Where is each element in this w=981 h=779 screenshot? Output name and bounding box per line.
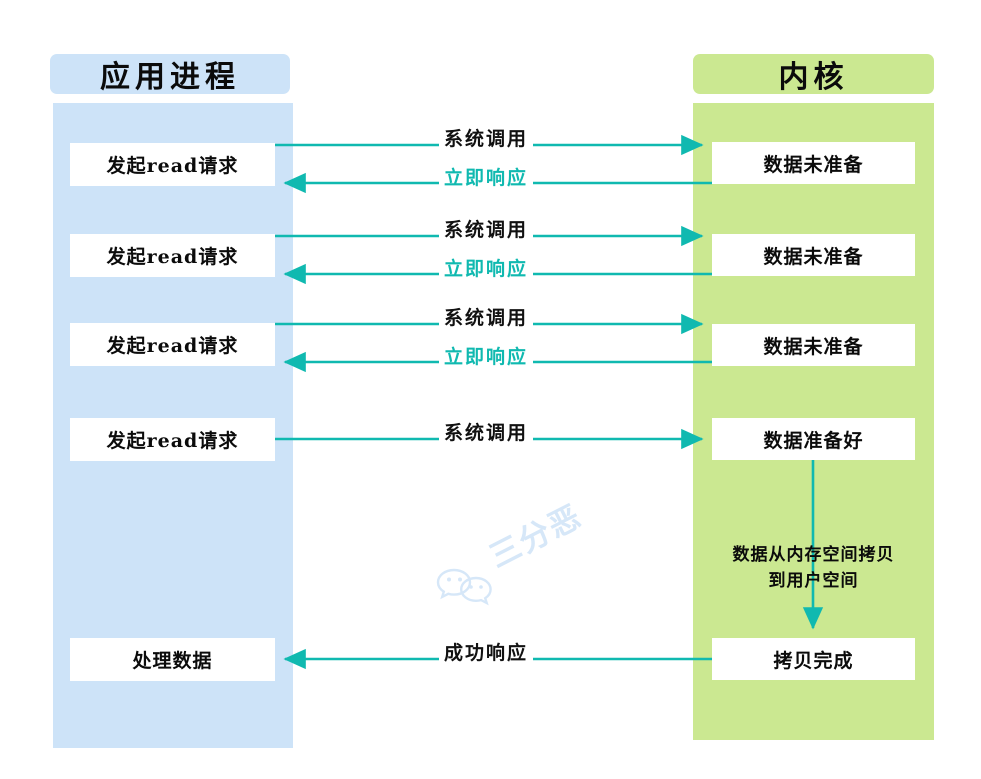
kernel-node-data-not-ready-2[interactable]: 数据未准备 bbox=[712, 234, 915, 276]
kernel-copy-note-line1: 数据从内存空间拷贝 bbox=[706, 542, 921, 568]
watermark: 三分恶 bbox=[432, 520, 622, 610]
kernel-node-data-not-ready-3[interactable]: 数据未准备 bbox=[712, 324, 915, 366]
kernel-title: 内核 bbox=[693, 54, 934, 94]
kernel-copy-note: 数据从内存空间拷贝 到用户空间 bbox=[706, 542, 921, 595]
app-node-read-request-2[interactable]: 发起read请求 bbox=[70, 234, 275, 277]
kernel-node-copy-complete[interactable]: 拷贝完成 bbox=[712, 638, 915, 680]
kernel-node-data-not-ready-1[interactable]: 数据未准备 bbox=[712, 142, 915, 184]
arrow-label-response-3: 立即响应 bbox=[439, 342, 533, 369]
kernel-node-data-ready[interactable]: 数据准备好 bbox=[712, 418, 915, 460]
arrow-label-syscall-1: 系统调用 bbox=[439, 124, 533, 151]
arrow-label-response-1: 立即响应 bbox=[439, 163, 533, 190]
arrow-label-syscall-3: 系统调用 bbox=[439, 303, 533, 330]
arrow-label-syscall-2: 系统调用 bbox=[439, 215, 533, 242]
diagram-canvas: 三分恶 应用进程 内核 bbox=[0, 0, 981, 779]
kernel-copy-note-line2: 到用户空间 bbox=[706, 568, 921, 594]
app-node-read-request-1[interactable]: 发起read请求 bbox=[70, 143, 275, 186]
app-process-title: 应用进程 bbox=[50, 54, 290, 94]
app-node-read-request-4[interactable]: 发起read请求 bbox=[70, 418, 275, 461]
arrow-label-success: 成功响应 bbox=[439, 638, 533, 665]
app-node-read-request-3[interactable]: 发起read请求 bbox=[70, 323, 275, 366]
arrow-label-syscall-4: 系统调用 bbox=[439, 418, 533, 445]
app-node-process-data[interactable]: 处理数据 bbox=[70, 638, 275, 681]
arrow-label-response-2: 立即响应 bbox=[439, 254, 533, 281]
